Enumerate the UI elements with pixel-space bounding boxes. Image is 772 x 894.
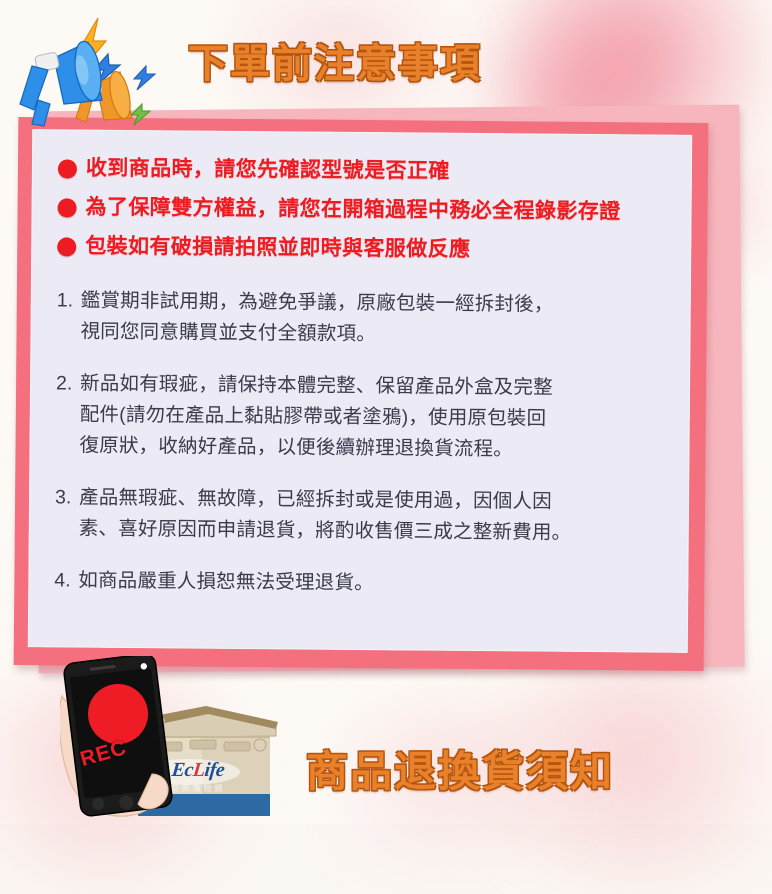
list-item-line: 素、喜好原因而申請退貨，將酌收售價三成之整新費用。: [79, 514, 673, 550]
bullet-item-text: 包裝如有破損請拍照並即時與客服做反應: [85, 235, 470, 261]
notice-panel: 收到商品時，請您先確認型號是否正確 為了保障雙方權益，請您在開箱過程中務必全程錄…: [28, 129, 692, 653]
list-item: 2. 新品如有瑕疵，請保持本體完整、保留產品外盒及完整 配件(請勿在產品上黏貼膠…: [55, 368, 674, 466]
lightning-bolt-icon: [134, 66, 155, 90]
bullet-item-text: 收到商品時，請您先確認型號是否正確: [86, 157, 450, 183]
brand-suffix: ife: [204, 759, 226, 781]
list-item-line: 復原狀，收納好產品，以便後續辦理退換貨流程。: [79, 431, 673, 467]
record-indicator-icon: [88, 684, 148, 744]
list-item-line: 鑑賞期非試用期，為避免爭議，原廠包裝一經拆封後，: [81, 286, 675, 322]
bullet-dot-icon: [58, 159, 77, 178]
list-item-body: 產品無瑕疵、無故障，已經拆封或是使用過，因個人因 素、喜好原因而申請退貨，將酌收…: [79, 483, 674, 550]
bullet-dot-icon: [57, 237, 76, 256]
numbered-list: 1. 鑑賞期非試用期，為避免爭議，原廠包裝一經拆封後， 視同您同意購買並支付全額…: [54, 285, 675, 622]
list-item-line: 配件(請勿在產品上黏貼膠帶或者塗鴉)，使用原包裝回: [80, 400, 674, 436]
list-item-body: 新品如有瑕疵，請保持本體完整、保留產品外盒及完整 配件(請勿在產品上黏貼膠帶或者…: [79, 369, 674, 467]
bullet-list: 收到商品時，請您先確認型號是否正確 為了保障雙方權益，請您在開箱過程中務必全程錄…: [57, 151, 674, 273]
bullet-item: 包裝如有破損請拍照並即時與客服做反應: [57, 229, 673, 267]
bullet-item: 為了保障雙方權益，請您在開箱過程中務必全程錄影存證: [57, 190, 673, 228]
list-item: 4. 如商品嚴重人損恕無法受理退貨。: [54, 565, 672, 601]
phone-hand-svg: [60, 656, 190, 824]
bullet-dot-icon: [58, 198, 77, 217]
list-item-index: 2.: [55, 368, 80, 461]
header: 下單前注意事項: [0, 0, 772, 108]
bottom-title: 商品退換貨須知: [306, 738, 614, 799]
bullet-item-text: 為了保障雙方權益，請您在開箱過程中務必全程錄影存證: [85, 196, 620, 224]
list-item-line: 產品無瑕疵、無故障，已經拆封或是使用過，因個人因: [79, 483, 673, 519]
megaphone-icons-svg: [2, 8, 182, 133]
phone-recording-illustration: REC: [60, 656, 190, 824]
list-item-body: 如商品嚴重人損恕無法受理退貨。: [78, 566, 672, 602]
list-item: 1. 鑑賞期非試用期，為避免爭議，原廠包裝一經拆封後， 視同您同意購買並支付全額…: [56, 285, 675, 352]
list-item-index: 1.: [56, 285, 81, 347]
page-title: 下單前注意事項: [188, 31, 482, 89]
list-item-index: 3.: [55, 482, 80, 544]
list-item-line: 視同您同意購買並支付全額款項。: [80, 317, 674, 353]
list-item-line: 如商品嚴重人損恕無法受理退貨。: [78, 566, 672, 602]
list-item-line: 新品如有瑕疵，請保持本體完整、保留產品外盒及完整: [80, 369, 674, 405]
list-item-body: 鑑賞期非試用期，為避免爭議，原廠包裝一經拆封後， 視同您同意購買並支付全額款項。: [80, 286, 675, 353]
bullet-item: 收到商品時，請您先確認型號是否正確: [58, 151, 674, 189]
list-item: 3. 產品無瑕疵、無故障，已經拆封或是使用過，因個人因 素、喜好原因而申請退貨，…: [55, 482, 674, 549]
megaphone-illustration: [2, 8, 182, 133]
lightning-bolt-icon: [131, 104, 150, 125]
megaphone-blue-icon: [20, 39, 105, 126]
list-item-index: 4.: [54, 565, 78, 596]
